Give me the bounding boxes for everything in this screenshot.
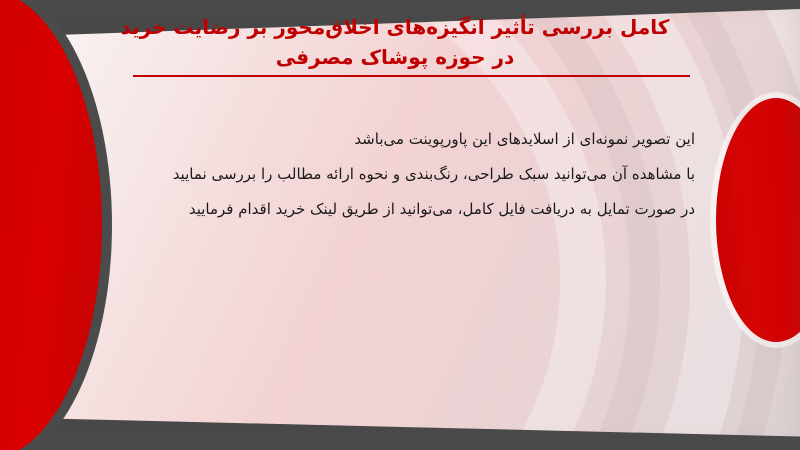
presentation-slide: کامل بررسی تأثیر انگیزه‌های اخلاق‌محور ب… bbox=[0, 0, 800, 450]
title-divider-rule bbox=[133, 75, 690, 77]
body-line-3: در صورت تمایل به دریافت فایل کامل، می‌تو… bbox=[110, 192, 695, 227]
slide-title: کامل بررسی تأثیر انگیزه‌های اخلاق‌محور ب… bbox=[100, 12, 690, 72]
slide-body-text: این تصویر نمونه‌ای از اسلایدهای این پاور… bbox=[110, 122, 695, 227]
slide-title-line-1: کامل بررسی تأثیر انگیزه‌های اخلاق‌محور ب… bbox=[100, 12, 690, 42]
slide-title-line-2: در حوزه پوشاک مصرفی bbox=[100, 42, 690, 72]
body-line-1: این تصویر نمونه‌ای از اسلایدهای این پاور… bbox=[110, 122, 695, 157]
body-line-2: با مشاهده آن می‌توانید سبک طراحی، رنگ‌بن… bbox=[110, 157, 695, 192]
